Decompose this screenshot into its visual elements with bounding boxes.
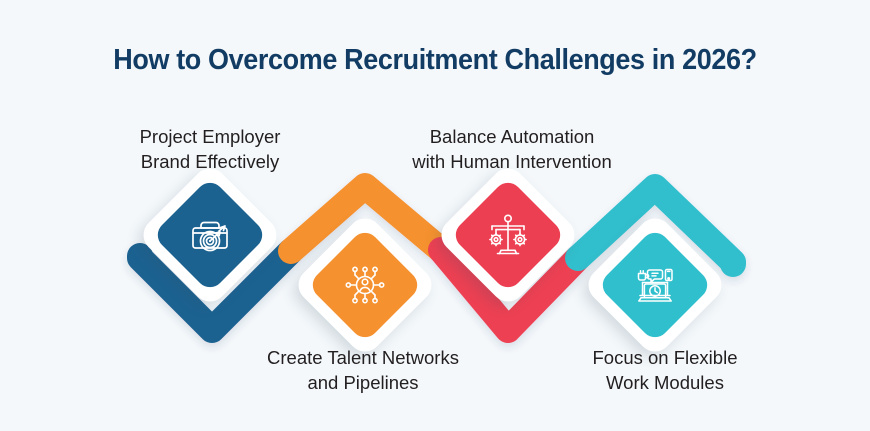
step-node-3[interactable]: [456, 183, 560, 287]
step-caption-3: Balance Automation with Human Interventi…: [388, 124, 636, 174]
laptop-clock-remote-work-icon: [629, 259, 681, 311]
step-node-4[interactable]: [603, 233, 707, 337]
step-node-2[interactable]: [313, 233, 417, 337]
talent-network-icon: [339, 259, 391, 311]
step-caption-4: Focus on Flexible Work Modules: [545, 345, 785, 395]
page-title: How to Overcome Recruitment Challenges i…: [30, 44, 839, 77]
step-caption-2: Create Talent Networks and Pipelines: [238, 345, 488, 395]
briefcase-target-icon: [184, 209, 236, 261]
infographic-canvas: How to Overcome Recruitment Challenges i…: [0, 0, 870, 431]
step-caption-1: Project Employer Brand Effectively: [110, 124, 310, 174]
balance-scale-gears-icon: [482, 209, 534, 261]
step-node-1[interactable]: [158, 183, 262, 287]
